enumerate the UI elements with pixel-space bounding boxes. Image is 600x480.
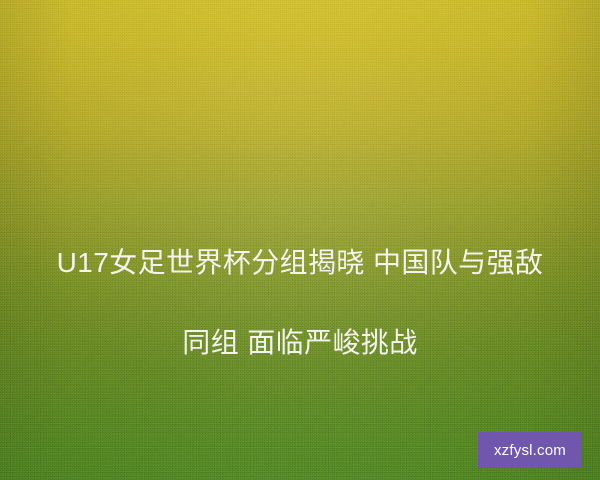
watermark-label: xzfysl.com [494,443,566,458]
watermark-badge: xzfysl.com [478,432,582,468]
headline-title: U17女足世界杯分组揭晓 中国队与强敌 同组 面临严峻挑战 [0,203,600,403]
headline-line-1: U17女足世界杯分组揭晓 中国队与强敌 [34,243,566,283]
headline-line-2: 同组 面临严峻挑战 [34,323,566,363]
headline-image-card: U17女足世界杯分组揭晓 中国队与强敌 同组 面临严峻挑战 xzfysl.com [0,0,600,480]
